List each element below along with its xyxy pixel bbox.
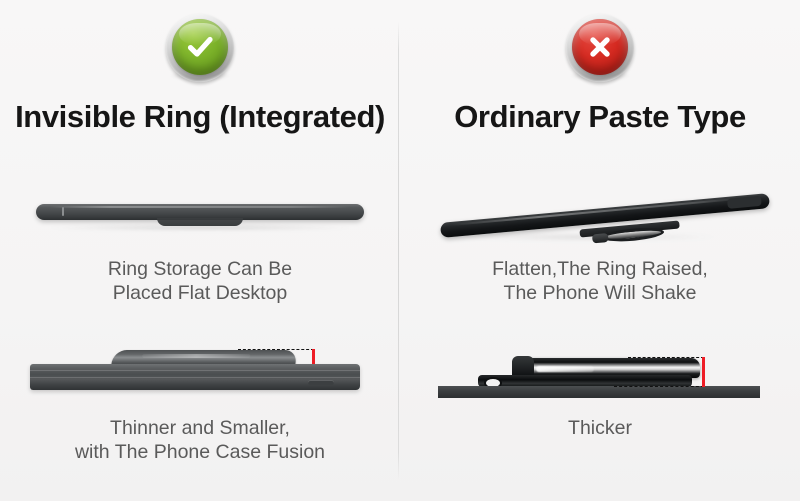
caption-thin-profile: Thinner and Smaller, with The Phone Case…	[0, 416, 400, 464]
bracket-dash-bottom	[614, 386, 704, 387]
verdict-badge-negative	[563, 12, 637, 86]
panel-ordinary-paste: Ordinary Paste Type Flatten,The Ring Rai…	[400, 0, 800, 501]
bracket-dash-top	[628, 357, 704, 358]
phone-ground-shadow	[460, 234, 720, 240]
bracket-dash-top	[238, 349, 314, 350]
caption-flat-profile: Ring Storage Can Be Placed Flat Desktop	[0, 257, 400, 305]
bracket-red-marker	[702, 357, 705, 387]
badge-face	[572, 19, 628, 75]
figure-phone-ring-thick-profile	[400, 336, 800, 408]
desk-surface	[438, 386, 760, 398]
badge-face	[172, 19, 228, 75]
page-title-right: Ordinary Paste Type	[400, 99, 800, 135]
phone-side-detail	[62, 207, 64, 216]
figure-phone-tilted-profile	[400, 176, 800, 246]
page-title-left: Invisible Ring (Integrated)	[0, 99, 400, 135]
figure-phone-flat-profile	[0, 176, 400, 246]
verdict-badge-positive	[163, 12, 237, 86]
panel-divider	[398, 22, 399, 480]
caption-thick-profile: Thicker	[400, 416, 800, 440]
case-side-button	[308, 380, 334, 385]
panel-invisible-ring: Invisible Ring (Integrated) Ring Storage…	[0, 0, 400, 501]
figure-phone-case-thin-profile	[0, 336, 400, 408]
caption-tilted-profile: Flatten,The Ring Raised, The Phone Will …	[400, 257, 800, 305]
cross-icon	[583, 30, 617, 64]
case-seam	[30, 377, 360, 378]
phone-end-cap	[727, 196, 762, 209]
comparison-infographic: Invisible Ring (Integrated) Ring Storage…	[0, 0, 800, 501]
phone-case-body	[30, 364, 360, 390]
integrated-ring-bump	[157, 218, 243, 226]
case-seam	[30, 370, 360, 371]
check-icon	[183, 30, 217, 64]
bracket-red-marker	[312, 349, 315, 364]
